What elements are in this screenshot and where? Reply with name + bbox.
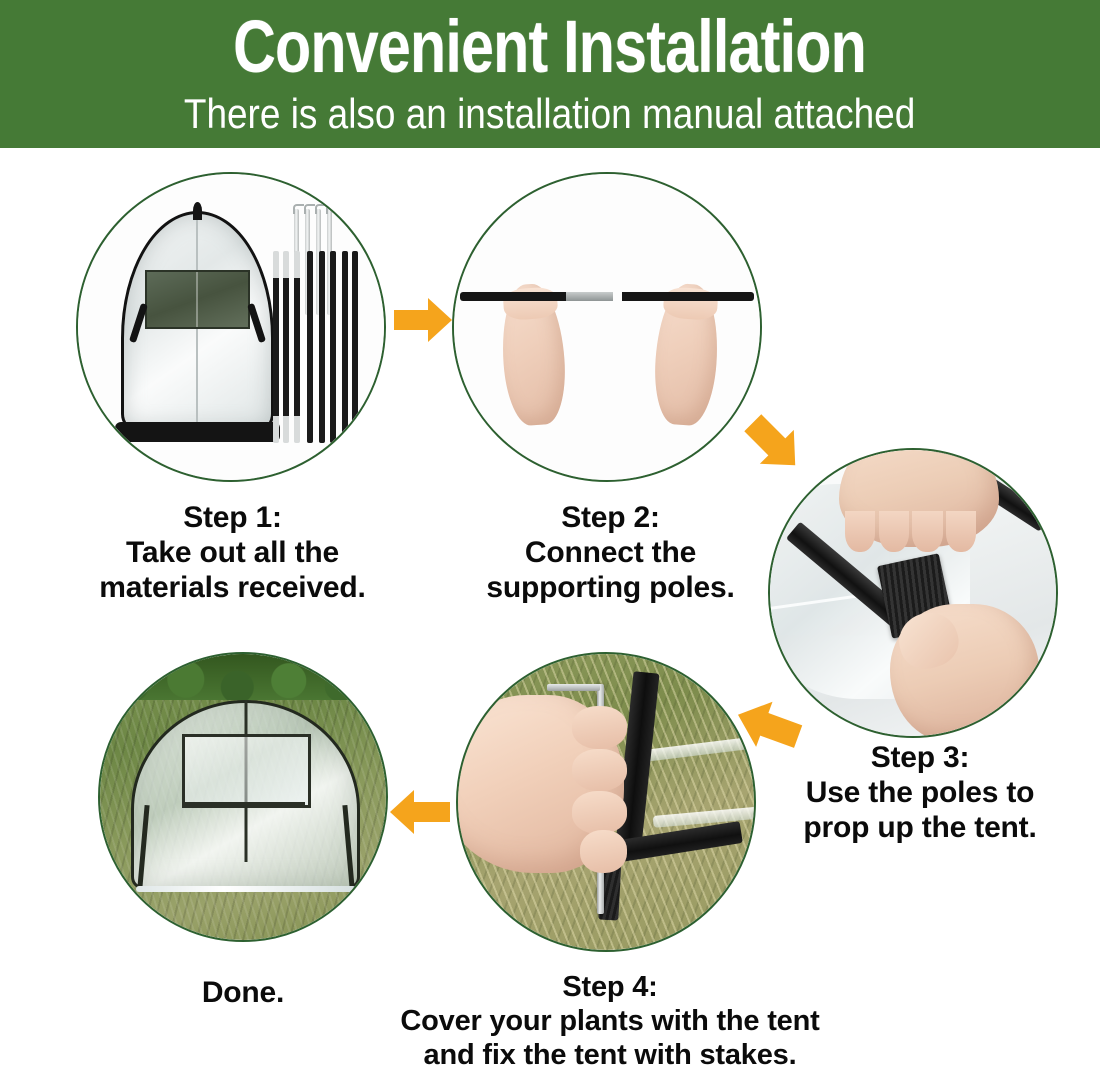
- step-done-photo: [98, 652, 388, 942]
- hedge-background-illustration: [100, 654, 386, 700]
- step-1-image: [78, 174, 384, 480]
- step-1-photo: [76, 172, 386, 482]
- step-done-caption: Done.: [98, 975, 388, 1010]
- step-4-photo: [456, 652, 756, 952]
- arrow-right-icon: [392, 296, 454, 344]
- step-3-image: [770, 450, 1056, 736]
- step-3-caption: Step 3: Use the poles to prop up the ten…: [760, 740, 1080, 845]
- assembled-tent-illustration: [131, 700, 360, 889]
- step-2-caption: Step 2: Connect the supporting poles.: [438, 500, 783, 605]
- upper-hand-illustration: [839, 450, 999, 547]
- support-pole-illustration: [460, 292, 754, 301]
- step-2-photo: [452, 172, 762, 482]
- page-title: Convenient Installation: [234, 6, 867, 88]
- page-subtitle: There is also an installation manual att…: [184, 90, 915, 138]
- lower-hand-illustration: [890, 604, 1039, 736]
- step-4-caption: Step 4: Cover your plants with the tent …: [330, 970, 890, 1072]
- step-4-image: [458, 654, 754, 950]
- step-2-image: [454, 174, 760, 480]
- step-3-photo: [768, 448, 1058, 738]
- packed-tent-bag-illustration: [121, 211, 274, 431]
- stake-head-illustration: [547, 684, 600, 691]
- hand-illustration: [458, 695, 624, 873]
- support-poles-illustration: [271, 251, 360, 444]
- arrow-left-icon: [386, 788, 452, 836]
- header-banner: Convenient Installation There is also an…: [0, 0, 1100, 148]
- step-done-image: [100, 654, 386, 940]
- step-1-caption: Step 1: Take out all the materials recei…: [60, 500, 405, 605]
